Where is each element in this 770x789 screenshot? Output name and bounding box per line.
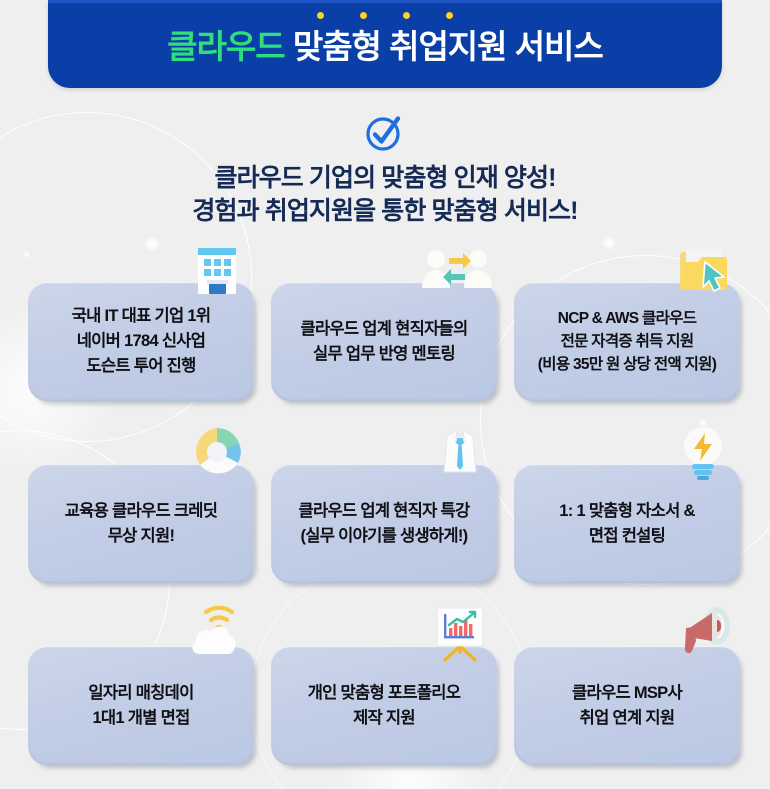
header-banner: 클라우드 맞춤형 취업지원 서비스: [48, 0, 722, 88]
check-icon-wrap: [0, 112, 770, 161]
card-msp-job[interactable]: 클라우드 MSP사 취업 연계 지원: [514, 646, 740, 765]
card-credit[interactable]: 교육용 클라우드 크레딧 무상 지원!: [28, 464, 254, 583]
subtitle-line-2: 경험과 취업지원을 통한 맞춤형 서비스!: [0, 195, 770, 228]
card-lecture[interactable]: 클라우드 업계 현직자 특강 (실무 이야기를 생생하게!): [271, 464, 497, 583]
card-consulting[interactable]: 1: 1 맞춤형 자소서 & 면접 컨설팅: [514, 464, 740, 583]
banner-top-line: [48, 0, 722, 3]
people-exchange-icon: [417, 242, 497, 300]
donut-chart-icon: [186, 424, 248, 482]
lightbulb-icon: [672, 424, 734, 482]
card-label: 국내 IT 대표 기업 1위 네이버 1784 신사업 도슨트 투어 진행: [72, 304, 211, 379]
card-label: NCP & AWS 클라우드 전문 자격증 취득 지원 (비용 35만 원 상당…: [538, 307, 716, 376]
card-label: 1: 1 맞춤형 자소서 & 면접 컨설팅: [559, 499, 694, 549]
card-label: 일자리 매칭데이 1대1 개별 면접: [88, 681, 193, 731]
card-matching-day[interactable]: 일자리 매칭데이 1대1 개별 면접: [28, 646, 254, 765]
decorative-dot: [24, 252, 29, 257]
subtitle-block: 클라우드 기업의 맞춤형 인재 양성! 경험과 취업지원을 통한 맞춤형 서비스…: [0, 162, 770, 228]
building-icon: [186, 242, 248, 300]
banner-dot: [317, 12, 324, 19]
card-label: 개인 맞춤형 포트폴리오 제작 지원: [308, 681, 461, 731]
cloud-wifi-icon: [186, 606, 248, 664]
banner-dot: [403, 12, 410, 19]
card-mentoring[interactable]: 클라우드 업계 현직자들의 실무 업무 반영 멘토링: [271, 282, 497, 401]
card-label: 클라우드 업계 현직자 특강 (실무 이야기를 생생하게!): [299, 499, 470, 549]
infographic-page: 클라우드 맞춤형 취업지원 서비스 클라우드 기업의 맞춤형 인재 양성! 경험…: [0, 0, 770, 789]
folder-cursor-icon: [672, 242, 734, 300]
card-certification[interactable]: NCP & AWS 클라우드 전문 자격증 취득 지원 (비용 35만 원 상당…: [514, 282, 740, 401]
banner-dot-row: [48, 12, 722, 19]
page-title-rest: 맞춤형 취업지원 서비스: [285, 28, 603, 65]
megaphone-icon: [672, 606, 734, 664]
presentation-chart-icon: [429, 606, 491, 664]
card-label: 클라우드 MSP사 취업 연계 지원: [572, 681, 682, 731]
shirt-tie-icon: [429, 424, 491, 482]
check-circle-icon: [362, 112, 408, 161]
page-title: 클라우드 맞춤형 취업지원 서비스: [48, 20, 722, 68]
subtitle-line-1: 클라우드 기업의 맞춤형 인재 양성!: [0, 162, 770, 195]
card-label: 교육용 클라우드 크레딧 무상 지원!: [65, 499, 218, 549]
card-portfolio[interactable]: 개인 맞춤형 포트폴리오 제작 지원: [271, 646, 497, 765]
decorative-dot: [146, 238, 158, 250]
card-label: 클라우드 업계 현직자들의 실무 업무 반영 멘토링: [300, 317, 467, 367]
decorative-dot: [604, 238, 614, 248]
banner-dot: [446, 12, 453, 19]
page-title-accent: 클라우드: [167, 28, 284, 65]
banner-dot: [360, 12, 367, 19]
card-naver-tour[interactable]: 국내 IT 대표 기업 1위 네이버 1784 신사업 도슨트 투어 진행: [28, 282, 254, 401]
benefit-card-grid: 국내 IT 대표 기업 1위 네이버 1784 신사업 도슨트 투어 진행 클라…: [28, 282, 742, 765]
